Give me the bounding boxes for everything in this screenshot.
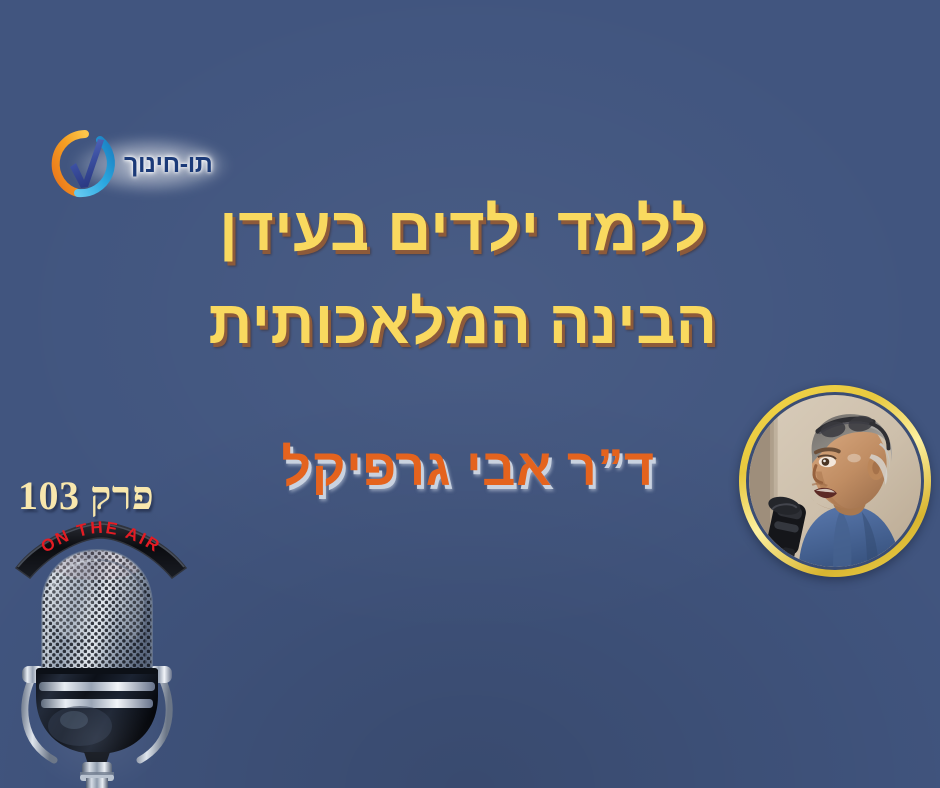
- speaker-photo-ring: [746, 392, 924, 570]
- brand-logo-text: תו-חינוך: [124, 150, 212, 179]
- speaker-name: ד”ר אבי גרפיקל: [248, 438, 688, 498]
- podcast-cover-poster: תו-חינוך ללמד ילדים בעידן הבינה המלאכותי…: [0, 0, 940, 788]
- checkmark-circle-swoosh-icon: [48, 127, 122, 201]
- avatar: [749, 395, 921, 567]
- episode-label: פרק 103: [18, 472, 154, 519]
- title-line-2: הבינה המלאכותית: [198, 291, 728, 354]
- title-line-1: ללמד ילדים בעידן: [198, 198, 728, 261]
- poster-title: ללמד ילדים בעידן הבינה המלאכותית: [198, 198, 728, 355]
- brand-logo[interactable]: תו-חינוך: [48, 126, 253, 202]
- retro-microphone-icon: ON THE AIR: [0, 520, 206, 788]
- speaker-photo-frame: [739, 385, 931, 577]
